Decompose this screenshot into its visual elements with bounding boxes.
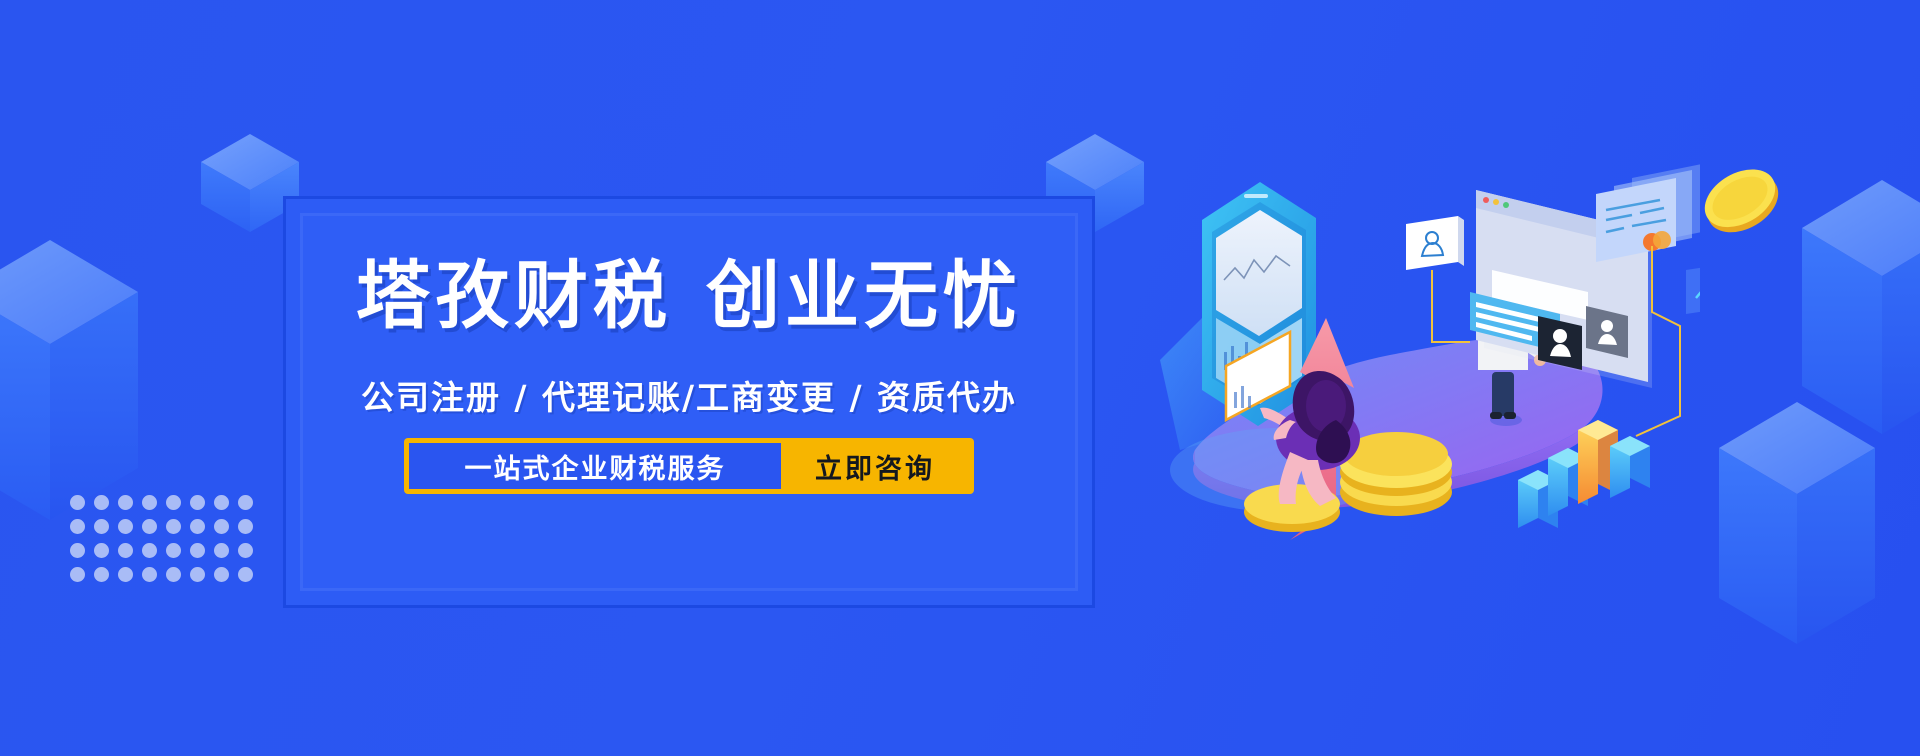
prism-left-edge-icon bbox=[0, 230, 150, 530]
content-frame-inner: 塔孜财税创业无忧 公司注册 / 代理记账/工商变更 / 资质代办 一站式企业财税… bbox=[300, 213, 1078, 591]
promo-banner: 塔孜财税创业无忧 公司注册 / 代理记账/工商变更 / 资质代办 一站式企业财税… bbox=[0, 0, 1920, 756]
dot-grid-decoration bbox=[70, 495, 262, 591]
page-title: 塔孜财税创业无忧 bbox=[303, 258, 1075, 336]
headline-part1: 塔孜财税 bbox=[356, 253, 672, 339]
hero-illustration bbox=[1140, 120, 1700, 540]
prism-right-bottom-icon bbox=[1705, 388, 1920, 648]
cta-bar[interactable]: 一站式企业财税服务 立即咨询 bbox=[404, 438, 974, 494]
consult-now-button[interactable]: 立即咨询 bbox=[781, 443, 969, 489]
headline-part2: 创业无忧 bbox=[706, 253, 1022, 339]
content-frame: 塔孜财税创业无忧 公司注册 / 代理记账/工商变更 / 资质代办 一站式企业财税… bbox=[283, 196, 1095, 608]
coin-top-right-icon bbox=[1693, 152, 1789, 248]
cta-tagline: 一站式企业财税服务 bbox=[409, 443, 781, 489]
services-subtitle: 公司注册 / 代理记账/工商变更 / 资质代办 bbox=[303, 371, 1075, 419]
